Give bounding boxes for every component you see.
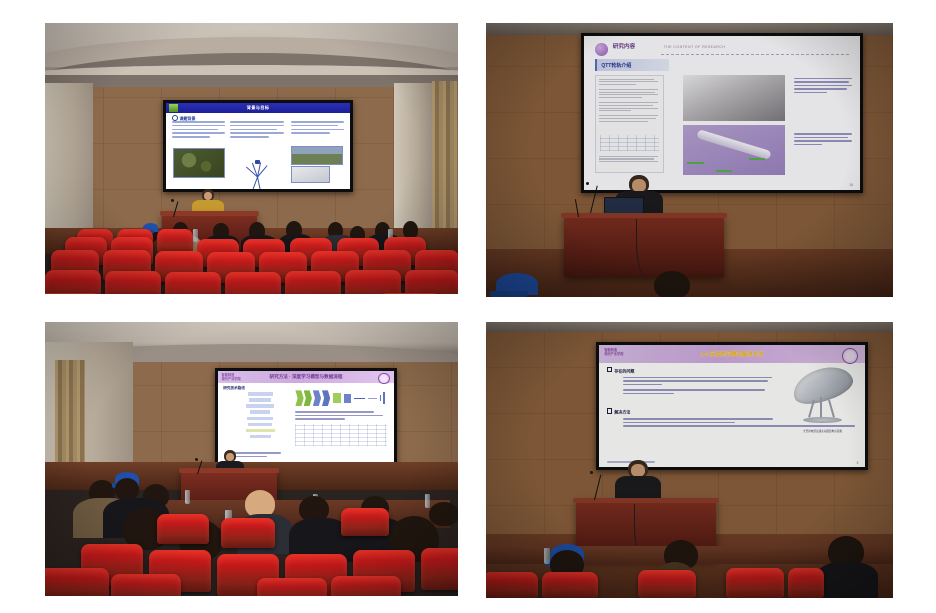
flow-node bbox=[250, 435, 271, 439]
lecture-room-scene-3: 智能制造 现代产业学院 研究方法 · 深度学习模型与数据流程 研究技术路线 bbox=[45, 322, 458, 596]
section-square-icon bbox=[607, 408, 612, 413]
photo-bottom-right[interactable]: 智能制造 现代产业学院 1.5 存在的问题及解决方法 存在的问题 bbox=[486, 322, 893, 598]
flow-node bbox=[248, 392, 273, 396]
audience-head bbox=[429, 502, 458, 526]
slide-figure-telescope bbox=[788, 367, 857, 428]
text-line bbox=[295, 415, 383, 417]
cnn-layer bbox=[304, 390, 312, 406]
flow-node bbox=[249, 398, 272, 402]
text-line bbox=[794, 85, 852, 87]
paper-table bbox=[600, 135, 659, 150]
projected-slide-2: 研究内容 THE CONTENT OF RESEARCH QTT轮轨介绍 bbox=[584, 36, 860, 190]
text-line bbox=[291, 125, 338, 127]
slide-page-number: 8 bbox=[857, 461, 859, 465]
chair bbox=[726, 568, 784, 598]
slide-figure-site-photo bbox=[291, 146, 343, 165]
slide-section-2-label: 解决方法 bbox=[607, 408, 630, 415]
text-line bbox=[172, 136, 210, 138]
telescope-support bbox=[828, 400, 835, 418]
slide-header-bar: 智能制造 现代产业学院 1.5 存在的问题及解决方法 bbox=[599, 345, 865, 363]
text-line bbox=[295, 411, 374, 413]
ceiling-strip bbox=[486, 322, 893, 332]
slide-photo-railwheel bbox=[683, 75, 785, 121]
paper-line bbox=[599, 79, 654, 80]
cad-label-tag bbox=[716, 170, 732, 172]
slide-column-1 bbox=[172, 121, 225, 140]
slide-figure-map bbox=[173, 148, 225, 178]
slide-header-bar: 背景与目标 bbox=[166, 103, 350, 113]
photo-top-right[interactable]: 研究内容 THE CONTENT OF RESEARCH QTT轮轨介绍 bbox=[486, 23, 893, 297]
slide-column-3 bbox=[291, 121, 344, 136]
text-line bbox=[794, 133, 852, 135]
paper-line bbox=[599, 115, 658, 116]
text-line bbox=[230, 136, 268, 138]
slide-note-top bbox=[794, 78, 852, 96]
chair bbox=[165, 272, 221, 294]
paper-line bbox=[599, 158, 654, 159]
slide-bullet-circle-icon bbox=[595, 43, 608, 56]
audience-head-foreground bbox=[654, 271, 690, 297]
chair bbox=[157, 229, 193, 253]
microphone-head-icon bbox=[586, 182, 589, 185]
diagram-spoke bbox=[257, 177, 261, 189]
text-line bbox=[794, 88, 847, 90]
projection-screen-frame-1: 背景与目标 课题背景 bbox=[163, 100, 353, 192]
slide-left-panel-title: 研究技术路线 bbox=[223, 386, 245, 391]
lecture-room-scene-1: 背景与目标 课题背景 bbox=[45, 23, 458, 294]
audience-head bbox=[115, 478, 139, 500]
paper-line bbox=[599, 105, 653, 106]
text-line bbox=[623, 418, 773, 420]
slide-header: 研究内容 THE CONTENT OF RESEARCH bbox=[595, 42, 849, 56]
cnn-connector bbox=[354, 398, 365, 399]
university-seal-icon bbox=[378, 373, 390, 385]
projection-screen-frame-2: 研究内容 THE CONTENT OF RESEARCH QTT轮轨介绍 bbox=[581, 33, 863, 193]
photo-bottom-left[interactable]: 智能制造 现代产业学院 研究方法 · 深度学习模型与数据流程 研究技术路线 bbox=[45, 322, 458, 596]
chair bbox=[157, 514, 209, 544]
text-line bbox=[623, 380, 769, 382]
lecture-room-scene-4: 智能制造 现代产业学院 1.5 存在的问题及解决方法 存在的问题 bbox=[486, 322, 893, 598]
text-line bbox=[230, 125, 283, 127]
telescope-base bbox=[803, 417, 842, 423]
text-line bbox=[794, 144, 822, 146]
telescope-support bbox=[820, 397, 822, 418]
podium-top-edge bbox=[561, 213, 727, 218]
flow-node bbox=[248, 423, 272, 427]
presenter-face bbox=[204, 192, 212, 200]
audience-shoulders bbox=[816, 562, 878, 598]
slide-caption-block bbox=[295, 411, 387, 422]
podium-top-edge bbox=[179, 468, 279, 473]
cnn-block bbox=[344, 394, 351, 403]
water-bottle bbox=[193, 229, 198, 242]
chair bbox=[542, 572, 598, 598]
slide-title: 研究方法 · 深度学习模型与数据流程 bbox=[218, 374, 394, 380]
paper-line bbox=[599, 97, 642, 98]
slide-photo-cad-model bbox=[683, 125, 785, 174]
chair bbox=[331, 576, 401, 596]
paper-line bbox=[599, 84, 636, 85]
text-line bbox=[794, 137, 849, 139]
chair bbox=[379, 293, 441, 294]
paper-line bbox=[599, 102, 658, 103]
projected-slide-4: 智能制造 现代产业学院 1.5 存在的问题及解决方法 存在的问题 bbox=[599, 345, 865, 467]
slide-tag-label: QTT轮轨介绍 bbox=[601, 62, 631, 69]
text-line bbox=[623, 422, 735, 424]
text-line bbox=[230, 129, 277, 131]
section-square-icon bbox=[607, 367, 612, 372]
paper-line bbox=[599, 161, 658, 162]
slide-header-bar: 智能制造 现代产业学院 研究方法 · 深度学习模型与数据流程 bbox=[218, 371, 394, 383]
paper-line bbox=[599, 156, 658, 157]
lecture-room-scene-2: 研究内容 THE CONTENT OF RESEARCH QTT轮轨介绍 bbox=[486, 23, 893, 297]
paper-line bbox=[599, 94, 658, 95]
chair bbox=[486, 572, 538, 598]
text-line bbox=[230, 121, 283, 123]
text-line bbox=[794, 78, 852, 80]
paper-line bbox=[599, 121, 648, 122]
cad-label-tag bbox=[687, 162, 703, 164]
projected-slide-1: 背景与目标 课题背景 bbox=[166, 103, 350, 189]
text-line bbox=[623, 389, 766, 391]
presenter-face bbox=[226, 453, 234, 461]
paper-line bbox=[599, 81, 658, 82]
projection-screen-frame-4: 智能制造 现代产业学院 1.5 存在的问题及解决方法 存在的问题 bbox=[596, 342, 868, 470]
text-line bbox=[623, 393, 675, 395]
flow-node bbox=[246, 404, 274, 408]
cnn-connector bbox=[368, 398, 377, 399]
cnn-layer bbox=[322, 390, 330, 406]
flow-node bbox=[250, 410, 270, 414]
cad-rail-rod bbox=[696, 129, 771, 160]
text-line bbox=[794, 92, 828, 94]
slide-cnn-diagram bbox=[295, 390, 387, 406]
text-line bbox=[623, 384, 662, 386]
slide-data-table bbox=[295, 424, 387, 446]
text-line bbox=[295, 418, 344, 420]
chair bbox=[421, 548, 458, 590]
slide-title: 背景与目标 bbox=[166, 105, 350, 111]
cnn-output-node bbox=[383, 392, 385, 404]
chair bbox=[105, 271, 161, 294]
text-line bbox=[794, 140, 852, 142]
flow-node bbox=[246, 429, 275, 433]
slide-section-1-label: 存在的问题 bbox=[607, 367, 634, 374]
chair bbox=[345, 270, 401, 294]
slide-canvas: 研究内容 THE CONTENT OF RESEARCH QTT轮轨介绍 bbox=[584, 36, 860, 190]
cnn-block bbox=[333, 393, 341, 403]
chair bbox=[221, 518, 275, 548]
slide-header-en: THE CONTENT OF RESEARCH bbox=[664, 45, 726, 49]
flow-node bbox=[247, 417, 273, 421]
slide-figure-equipment bbox=[291, 166, 330, 183]
paper-line bbox=[599, 118, 656, 119]
slide-note-bottom bbox=[794, 133, 852, 147]
water-bottle bbox=[425, 494, 430, 508]
chair bbox=[285, 271, 341, 294]
chair bbox=[638, 570, 696, 598]
chair bbox=[788, 568, 824, 598]
slide-header-rule bbox=[661, 54, 849, 55]
slide-header-cn: 研究内容 bbox=[613, 42, 635, 50]
chair bbox=[257, 578, 327, 596]
cad-label-tag bbox=[749, 158, 765, 160]
text-line bbox=[291, 121, 344, 123]
slide-column-2 bbox=[230, 121, 283, 140]
slide-title: 1.5 存在的问题及解决方法 bbox=[599, 350, 865, 358]
microphone-head-icon bbox=[195, 458, 198, 461]
paper-line bbox=[599, 89, 658, 90]
diagram-spoke bbox=[252, 177, 258, 189]
chair bbox=[225, 272, 281, 294]
chair bbox=[45, 568, 109, 596]
slide-flow-column bbox=[232, 392, 288, 441]
telescope-dish bbox=[789, 361, 857, 410]
photo-top-left[interactable]: 背景与目标 课题背景 bbox=[45, 23, 458, 294]
paper-line bbox=[599, 92, 655, 93]
chair bbox=[405, 270, 458, 294]
text-line bbox=[172, 125, 225, 127]
microphone-head-icon bbox=[171, 199, 174, 202]
chair bbox=[111, 574, 181, 596]
paper-line bbox=[599, 110, 631, 111]
text-line bbox=[291, 129, 344, 131]
chair bbox=[341, 508, 389, 536]
text-line bbox=[172, 129, 219, 131]
text-line bbox=[230, 132, 283, 134]
text-line bbox=[172, 132, 225, 134]
ceiling-curve-highlight bbox=[45, 65, 458, 75]
slide-section-1-bullets bbox=[623, 377, 775, 397]
chair bbox=[45, 270, 101, 294]
slide-figure-caption: 大型射电望远镜主动面结构示意图 bbox=[788, 430, 857, 433]
slide-figure-diagram bbox=[232, 146, 282, 179]
text-line bbox=[172, 121, 225, 123]
water-bottle bbox=[544, 548, 550, 564]
cnn-layer bbox=[295, 390, 303, 406]
water-bottle bbox=[185, 490, 190, 504]
slide-page-number: 16 bbox=[849, 183, 853, 187]
university-seal-icon bbox=[842, 348, 859, 365]
text-line bbox=[291, 132, 329, 134]
microphone-head-icon bbox=[590, 471, 593, 474]
text-line bbox=[623, 377, 772, 379]
slide-paper-figure bbox=[595, 75, 664, 174]
paper-line bbox=[599, 108, 658, 109]
text-line bbox=[794, 81, 850, 83]
slide-tag: QTT轮轨介绍 bbox=[595, 59, 669, 71]
cnn-output-node bbox=[380, 395, 382, 401]
audience-cap bbox=[496, 273, 538, 295]
cnn-layer bbox=[313, 390, 321, 406]
chair bbox=[45, 293, 101, 294]
